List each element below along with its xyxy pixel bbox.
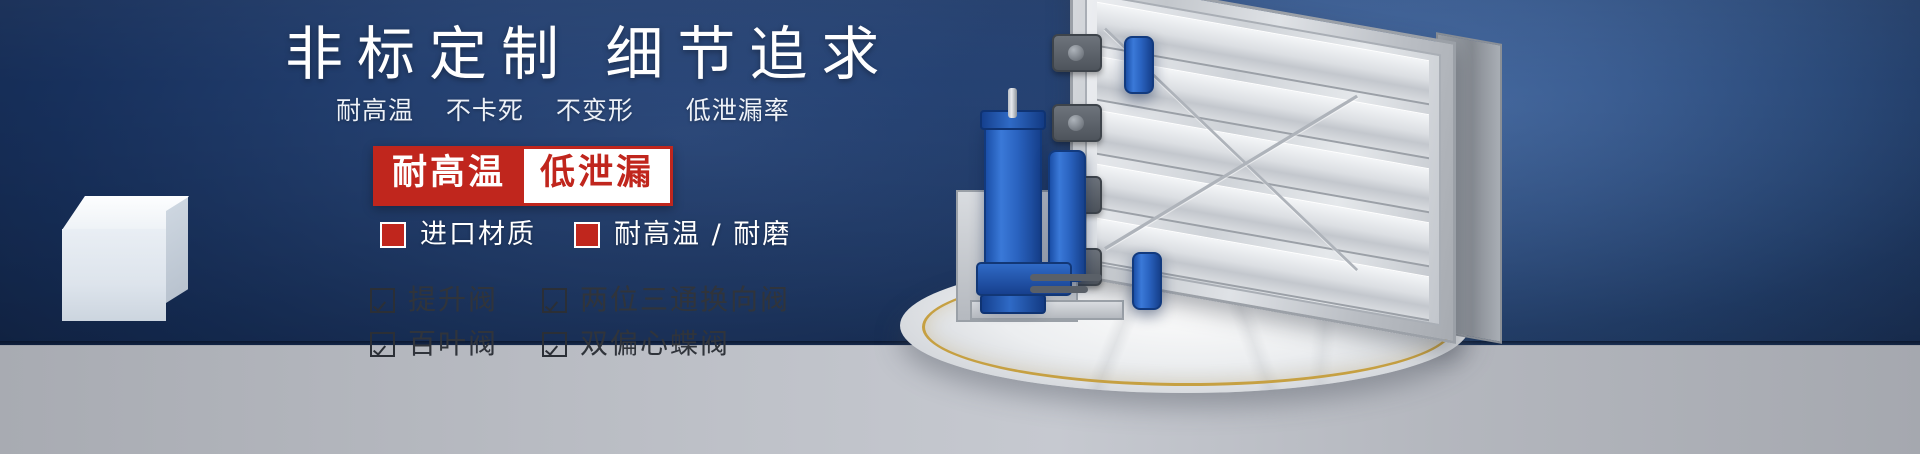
- hydraulic-hose: [1030, 286, 1088, 293]
- red-square-icon: [380, 222, 406, 248]
- hydraulic-hose: [1030, 274, 1102, 281]
- product-image: [880, 0, 1920, 454]
- feature-list: 进口材质 耐高温 / 耐磨: [380, 220, 791, 250]
- cylinder-bottom-cap: [980, 294, 1046, 314]
- red-square-icon: [574, 222, 600, 248]
- linkage-actuator-bottom: [1132, 252, 1162, 310]
- checklist-item: 双偏心蝶阀: [542, 328, 790, 360]
- badge-segment-left: 耐高温: [376, 149, 524, 203]
- damper-hinge-boss: [1052, 104, 1102, 142]
- subheadline-item-4: 低泄漏率: [686, 96, 790, 125]
- subheadline: 耐高温 不卡死 不变形 低泄漏率: [336, 94, 856, 128]
- checkbox-checked-icon: [370, 288, 395, 313]
- product-checklist: 提升阀 两位三通换向阀 百叶阀 双偏心蝶阀: [370, 284, 790, 360]
- subheadline-item-2: 不卡死: [446, 96, 524, 125]
- checklist-item: 提升阀: [370, 284, 498, 316]
- checklist-label: 提升阀: [408, 284, 498, 316]
- feature-label: 进口材质: [420, 220, 536, 250]
- promo-banner: 非标定制 细节追求 耐高温 不卡死 不变形 低泄漏率 耐高温 低泄漏 进口材质 …: [0, 0, 1920, 454]
- cylinder-rod: [1008, 88, 1017, 118]
- damper-hinge-boss: [1052, 34, 1102, 72]
- checklist-item: 百叶阀: [370, 328, 498, 360]
- checkbox-checked-icon: [370, 332, 395, 357]
- cube-front-face: [62, 229, 166, 321]
- checkbox-checked-icon: [542, 288, 567, 313]
- white-cube-decor: [62, 196, 188, 322]
- checklist-label: 百叶阀: [408, 328, 498, 360]
- linkage-actuator-top: [1124, 36, 1154, 94]
- checklist-label: 两位三通换向阀: [580, 284, 790, 316]
- subheadline-item-1: 耐高温: [336, 96, 414, 125]
- checklist-item: 两位三通换向阀: [542, 284, 790, 316]
- subheadline-item-3: 不变形: [556, 96, 634, 125]
- badge-segment-right: 低泄漏: [524, 149, 670, 203]
- checklist-label: 双偏心蝶阀: [580, 328, 730, 360]
- headline: 非标定制 细节追求: [285, 18, 905, 90]
- cube-side-face: [166, 197, 188, 303]
- checkbox-checked-icon: [542, 332, 567, 357]
- feature-item: 耐高温 / 耐磨: [574, 220, 791, 250]
- feature-label: 耐高温 / 耐磨: [614, 220, 791, 250]
- highlight-badge: 耐高温 低泄漏: [373, 146, 673, 206]
- feature-item: 进口材质: [380, 220, 536, 250]
